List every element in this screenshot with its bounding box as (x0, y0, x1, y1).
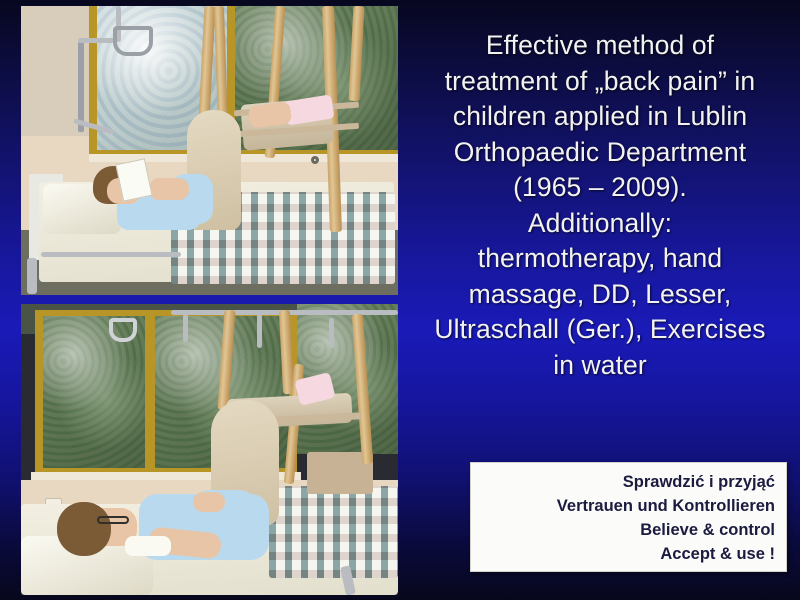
trapeze-arm-upper (78, 38, 118, 43)
page-title: Effective method of treatment of „back p… (404, 28, 796, 383)
trapeze-handle-icon (113, 26, 153, 56)
pole-ring-upper (311, 156, 319, 164)
bed-side-rail-upper (41, 252, 181, 257)
bed-leg-upper (27, 258, 37, 294)
trapeze-post-upper (78, 42, 84, 132)
ceiling-drop-2 (257, 314, 262, 348)
patient-arm-upper (149, 178, 189, 200)
callout-box: Sprawdzić i przyjąć Vertrauen und Kontro… (470, 462, 787, 572)
patient-hair-lower (57, 502, 111, 556)
bed-quilt-lower (269, 486, 398, 578)
trapeze-handle-lower-icon (109, 318, 137, 342)
callout-line-english: Believe & control (481, 518, 775, 542)
ceiling-drop-3 (329, 318, 334, 348)
photo-traction-lower (21, 304, 398, 595)
patient-collar-lower (125, 536, 171, 556)
photo-traction-upper (21, 6, 398, 295)
callout-line-accept: Accept & use ! (481, 542, 775, 566)
patient-glasses-icon (97, 516, 129, 524)
ceiling-drop-1 (183, 314, 188, 342)
slide-canvas: Effective method of treatment of „back p… (0, 0, 800, 600)
photo-scene-lower (21, 304, 398, 595)
callout-line-polish: Sprawdzić i przyjąć (481, 470, 775, 494)
photo-scene-upper (21, 6, 398, 295)
callout-line-german: Vertrauen und Kontrollieren (481, 494, 775, 518)
patient-hand-lower (193, 492, 225, 512)
